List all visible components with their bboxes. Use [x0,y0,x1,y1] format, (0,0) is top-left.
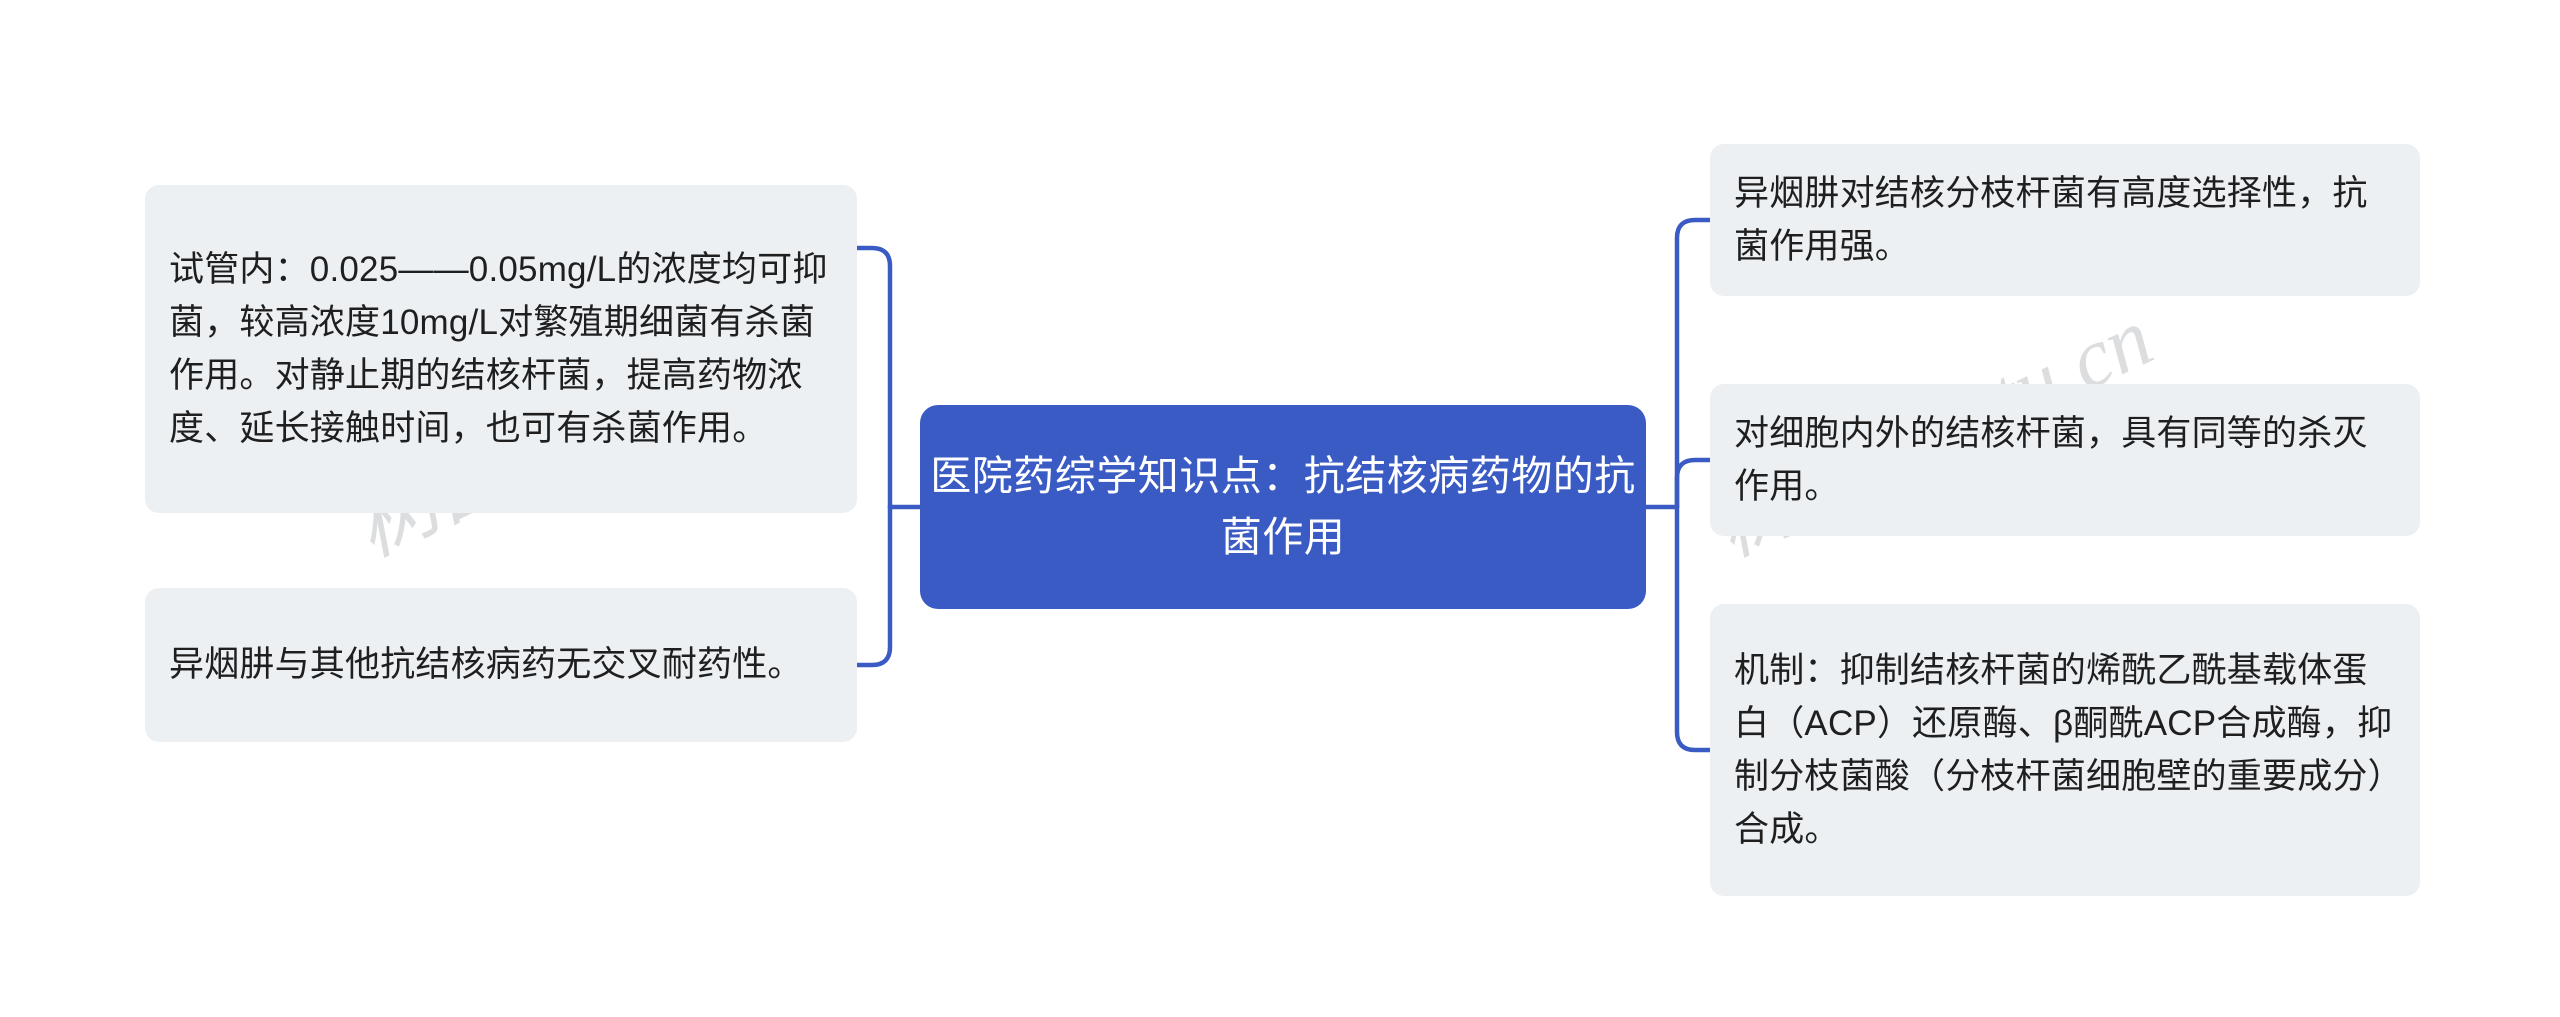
root-node-label: 医院药综学知识点：抗结核病药物的抗菌作用 [920,446,1646,569]
branch-node-left-2-label: 异烟肼与其他抗结核病药无交叉耐药性。 [169,638,803,691]
root-node[interactable]: 医院药综学知识点：抗结核病药物的抗菌作用 [920,405,1646,609]
branch-node-right-3[interactable]: 机制：抑制结核杆菌的烯酰乙酰基载体蛋白（ACP）还原酶、β酮酰ACP合成酶，抑制… [1710,604,2420,896]
connector-right-3 [1677,507,1710,750]
connector-left-1 [857,248,890,507]
branch-node-left-1-label: 试管内：0.025——0.05mg/L的浓度均可抑菌，较高浓度10mg/L对繁殖… [169,243,831,456]
branch-node-left-2[interactable]: 异烟肼与其他抗结核病药无交叉耐药性。 [145,588,857,742]
branch-node-right-2[interactable]: 对细胞内外的结核杆菌，具有同等的杀灭作用。 [1710,384,2420,536]
branch-node-left-1[interactable]: 试管内：0.025——0.05mg/L的浓度均可抑菌，较高浓度10mg/L对繁殖… [145,185,857,513]
branch-node-right-2-label: 对细胞内外的结核杆菌，具有同等的杀灭作用。 [1734,407,2394,513]
connector-left-2 [857,507,890,665]
branch-node-right-1[interactable]: 异烟肼对结核分枝杆菌有高度选择性，抗菌作用强。 [1710,144,2420,296]
branch-node-right-1-label: 异烟肼对结核分枝杆菌有高度选择性，抗菌作用强。 [1734,167,2394,273]
branch-node-right-3-label: 机制：抑制结核杆菌的烯酰乙酰基载体蛋白（ACP）还原酶、β酮酰ACP合成酶，抑制… [1734,644,2394,857]
mindmap-canvas: 树图 shutu.cn 树图 shutu.cn 试管内：0.025——0.05m… [0,0,2560,1017]
